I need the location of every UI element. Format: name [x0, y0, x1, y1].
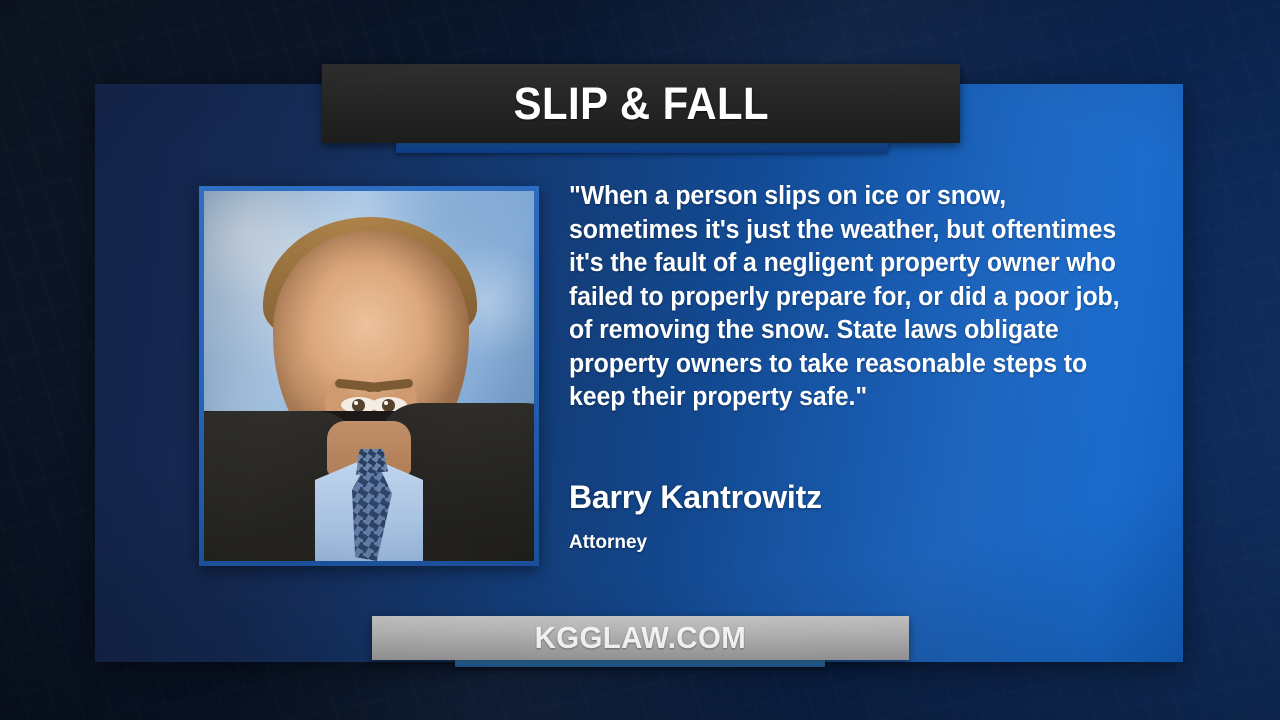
- portrait-frame: [199, 186, 539, 566]
- website-url: KGGLAW.COM: [535, 620, 747, 656]
- page-title: SLIP & FALL: [513, 78, 768, 130]
- portrait-tie-knot: [354, 449, 388, 475]
- speaker-name: Barry Kantrowitz: [569, 479, 822, 516]
- speaker-role: Attorney: [569, 532, 647, 554]
- title-banner: SLIP & FALL: [322, 64, 960, 143]
- url-banner: KGGLAW.COM: [372, 616, 909, 660]
- portrait-photo: [204, 191, 534, 561]
- broadcast-lower-third-graphic: SLIP & FALL: [0, 0, 1280, 720]
- quote-text: "When a person slips on ice or snow, som…: [569, 180, 1135, 415]
